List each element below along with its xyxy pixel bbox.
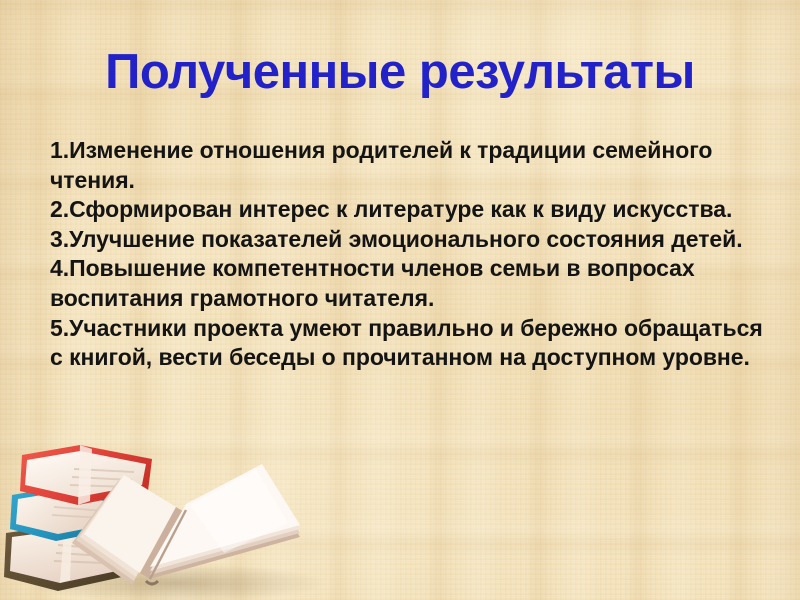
results-list-line: 3.Улучшение показателей эмоционального с… [50, 225, 766, 255]
results-list-line: с книгой, вести беседы о прочитанном на … [50, 343, 766, 373]
slide-canvas: Полученные результаты 1.Изменение отноше… [0, 0, 800, 600]
results-list: 1.Изменение отношения родителей к традиц… [50, 136, 766, 373]
results-list-line: 5.Участники проекта умеют правильно и бе… [50, 314, 766, 344]
slide-title: Полученные результаты [0, 44, 800, 100]
results-list-line: воспитания грамотного читателя. [50, 284, 766, 314]
results-list-line: 4.Повышение компетентности членов семьи … [50, 254, 766, 284]
results-list-line: 2.Сформирован интерес к литературе как к… [50, 195, 766, 225]
books-illustration [0, 425, 340, 600]
results-list-line: чтения. [50, 166, 766, 196]
results-list-line: 1.Изменение отношения родителей к традиц… [50, 136, 766, 166]
